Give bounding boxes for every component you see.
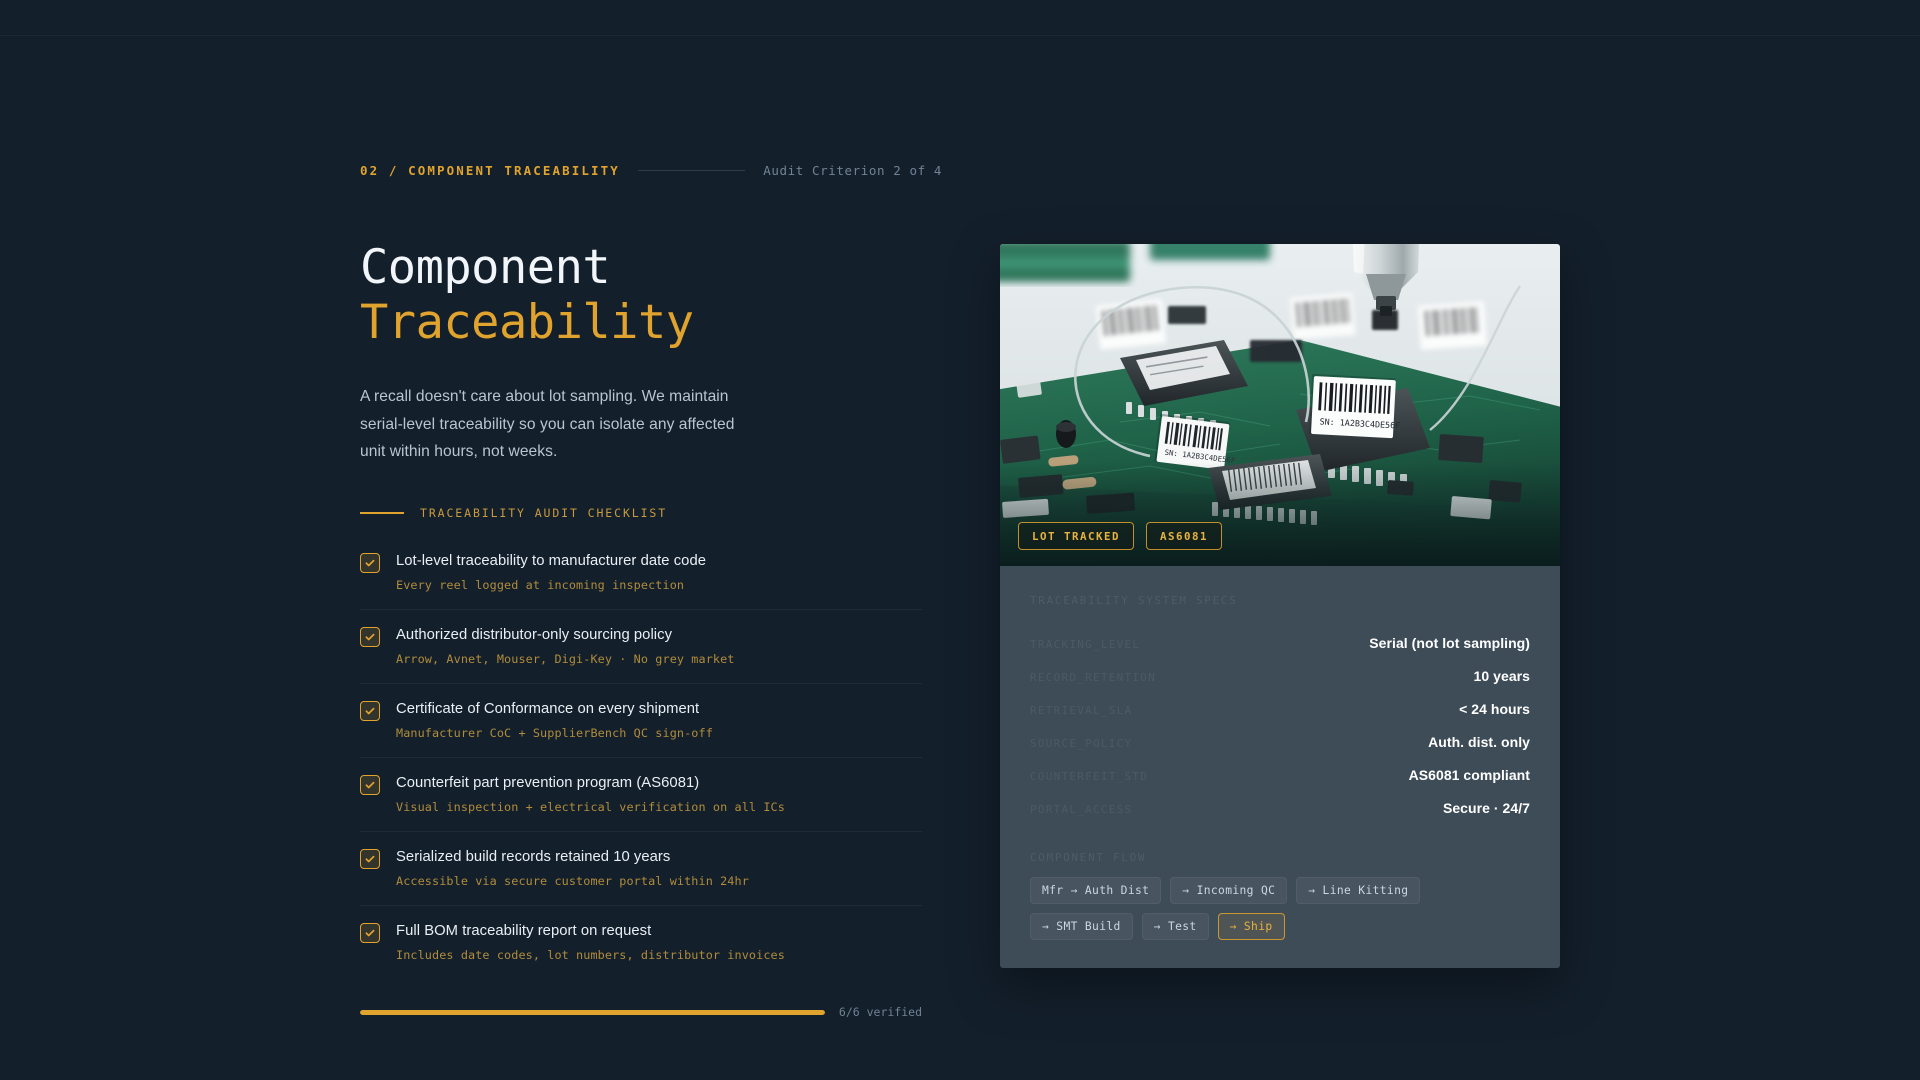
top-divider [0,35,1920,36]
checklist-item[interactable]: Certificate of Conformance on every ship… [360,683,922,757]
checklist-item-note: Arrow, Avnet, Mouser, Digi-Key · No grey… [396,652,922,666]
spec-row: PORTAL_ACCESSSecure · 24/7 [1030,792,1530,825]
photo-badge-group: LOT TRACKEDAS6081 [1018,522,1222,550]
spec-key: TRACKING_LEVEL [1030,638,1140,651]
page-title-line-1: Component [360,240,922,295]
progress-label: 6/6 verified [839,1005,922,1019]
progress-track [360,1010,825,1015]
traceability-card: SN: 1A2B3C4DE56F [1000,244,1560,968]
checklist-item-text: Counterfeit part prevention program (AS6… [396,774,922,814]
page-root: 02 / COMPONENT TRACEABILITY Audit Criter… [0,0,1920,1080]
photo-badge: AS6081 [1146,522,1222,550]
spec-key: PORTAL_ACCESS [1030,803,1132,816]
checklist-item-label: Certificate of Conformance on every ship… [396,700,922,720]
spec-panel: TRACEABILITY SYSTEM SPECS TRACKING_LEVEL… [1000,566,1560,968]
checklist-item-note: Every reel logged at incoming inspection [396,578,922,592]
checklist-item-label: Counterfeit part prevention program (AS6… [396,774,922,794]
spec-value: 10 years [1474,668,1530,684]
verification-progress: 6/6 verified [360,1005,922,1019]
progress-fill [360,1010,825,1015]
checklist-item[interactable]: Full BOM traceability report on requestI… [360,905,922,979]
checklist-item-label: Authorized distributor-only sourcing pol… [396,626,922,646]
checklist-title: TRACEABILITY AUDIT CHECKLIST [420,506,667,520]
page-title: Component Traceability [360,240,922,350]
spec-row: TRACKING_LEVELSerial (not lot sampling) [1030,627,1530,660]
checklist-item[interactable]: Counterfeit part prevention program (AS6… [360,757,922,831]
spec-key: COUNTERFEIT_STD [1030,770,1148,783]
accent-dash-icon [360,512,404,514]
checkmark-icon[interactable] [360,775,380,795]
spec-key: RETRIEVAL_SLA [1030,704,1132,717]
flow-title: COMPONENT FLOW [1030,851,1530,864]
checklist-item-text: Full BOM traceability report on requestI… [396,922,922,962]
page-title-line-2: Traceability [360,295,922,350]
checkmark-icon[interactable] [360,701,380,721]
checkmark-icon[interactable] [360,849,380,869]
hero-description: A recall doesn't care about lot sampling… [360,383,750,466]
checklist-item-label: Lot-level traceability to manufacturer d… [396,552,922,572]
checklist-item[interactable]: Authorized distributor-only sourcing pol… [360,609,922,683]
checklist-item[interactable]: Lot-level traceability to manufacturer d… [360,542,922,609]
left-content-column: Component Traceability A recall doesn't … [360,240,922,1019]
checkmark-icon[interactable] [360,553,380,573]
checklist-item-label: Full BOM traceability report on request [396,922,922,942]
checklist-header: TRACEABILITY AUDIT CHECKLIST [360,506,922,520]
checkmark-icon[interactable] [360,923,380,943]
section-index-label: 02 / COMPONENT TRACEABILITY [360,163,620,178]
checklist-item-note: Visual inspection + electrical verificat… [396,800,922,814]
spec-value: AS6081 compliant [1409,767,1530,783]
audit-checklist: Lot-level traceability to manufacturer d… [360,542,922,979]
flow-chip: → Line Kitting [1296,877,1420,904]
spec-row: RETRIEVAL_SLA< 24 hours [1030,693,1530,726]
spec-row: SOURCE_POLICYAuth. dist. only [1030,726,1530,759]
checklist-item-label: Serialized build records retained 10 yea… [396,848,922,868]
spec-row: RECORD_RETENTION10 years [1030,660,1530,693]
flow-chip: Mfr → Auth Dist [1030,877,1161,904]
checklist-item-text: Serialized build records retained 10 yea… [396,848,922,888]
spec-row: COUNTERFEIT_STDAS6081 compliant [1030,759,1530,792]
spec-key: SOURCE_POLICY [1030,737,1132,750]
flow-chip: → Incoming QC [1170,877,1287,904]
checklist-item-note: Manufacturer CoC + SupplierBench QC sign… [396,726,922,740]
section-eyebrow: 02 / COMPONENT TRACEABILITY Audit Criter… [360,163,1560,178]
spec-value: Auth. dist. only [1428,734,1530,750]
spec-value: Secure · 24/7 [1443,800,1530,816]
checklist-item-text: Lot-level traceability to manufacturer d… [396,552,922,592]
component-flow-chips: Mfr → Auth Dist→ Incoming QC→ Line Kitti… [1030,877,1530,940]
checklist-item-note: Accessible via secure customer portal wi… [396,874,922,888]
spec-panel-title: TRACEABILITY SYSTEM SPECS [1030,594,1530,607]
flow-chip: → Test [1142,913,1209,940]
spec-value: Serial (not lot sampling) [1369,635,1530,651]
checklist-item[interactable]: Serialized build records retained 10 yea… [360,831,922,905]
spec-key: RECORD_RETENTION [1030,671,1156,684]
spec-value: < 24 hours [1459,701,1530,717]
flow-chip: → SMT Build [1030,913,1133,940]
checklist-item-text: Certificate of Conformance on every ship… [396,700,922,740]
audit-criterion-counter: Audit Criterion 2 of 4 [763,163,942,178]
checklist-item-text: Authorized distributor-only sourcing pol… [396,626,922,666]
flow-chip-terminal: → Ship [1218,913,1285,940]
checkmark-icon[interactable] [360,627,380,647]
spec-row-list: TRACKING_LEVELSerial (not lot sampling)R… [1030,627,1530,825]
photo-badge: LOT TRACKED [1018,522,1134,550]
checklist-item-note: Includes date codes, lot numbers, distri… [396,948,922,962]
eyebrow-rule [638,170,745,171]
pcb-barcode-photo: SN: 1A2B3C4DE56F [1000,244,1560,566]
